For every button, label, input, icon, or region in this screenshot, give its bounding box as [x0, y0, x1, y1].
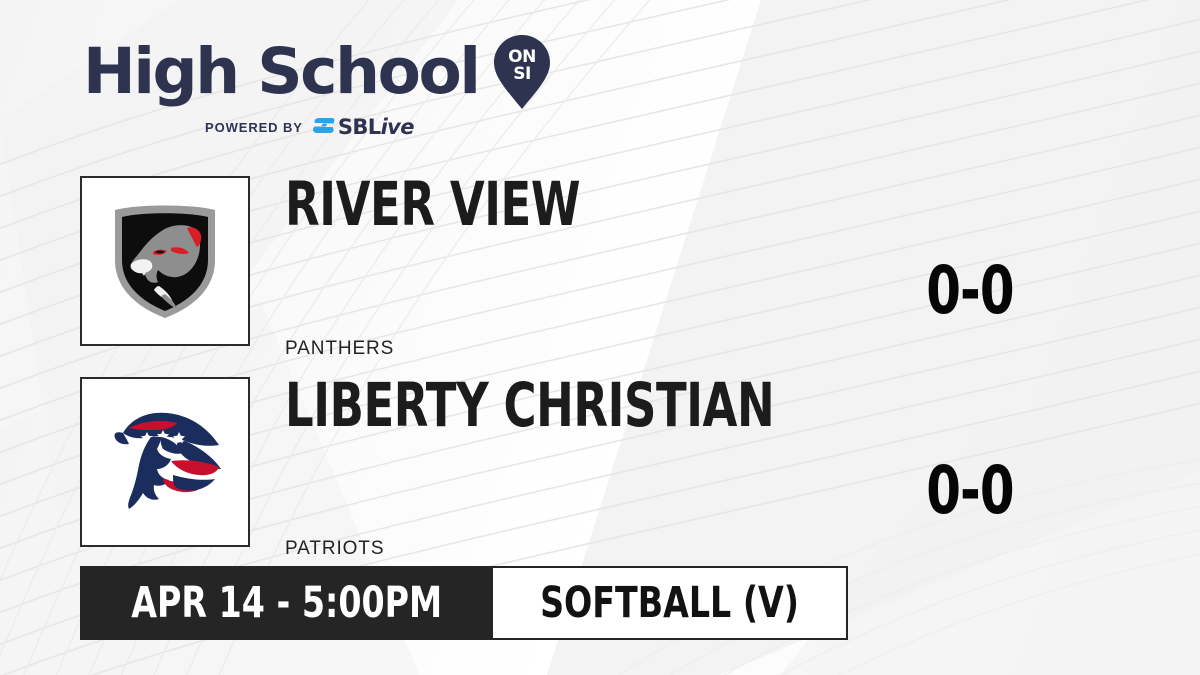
brand-title-row: High School ON SI — [83, 34, 703, 110]
sblive-main: SBL — [338, 115, 381, 139]
sblive-suffix: ive — [381, 115, 414, 139]
game-info-bar: APR 14 - 5:00PM SOFTBALL (V) — [80, 566, 848, 640]
game-datetime-panel: APR 14 - 5:00PM — [80, 566, 493, 640]
brand-title: High School — [83, 41, 479, 103]
team-name-river-view: RIVER VIEW — [285, 174, 580, 235]
team-logo-box-liberty-christian — [80, 377, 250, 547]
team-name-liberty-christian: LIBERTY CHRISTIAN — [285, 375, 774, 436]
panther-shield-logo — [109, 202, 221, 320]
team-record-liberty-christian: 0-0 — [878, 458, 1063, 524]
sblive-bolt-icon — [312, 117, 335, 138]
team-mascot-patriots: PATRIOTS — [285, 538, 384, 560]
on-si-pin-icon: ON SI — [493, 34, 551, 110]
game-sport-panel: SOFTBALL (V) — [493, 566, 848, 640]
sblive-wordmark: SBLive — [338, 115, 414, 139]
team-mascot-panthers: PANTHERS — [285, 338, 394, 360]
brand-header: High School ON SI POWERED BY SBLive — [83, 34, 703, 139]
powered-by-label: POWERED BY — [205, 120, 303, 135]
matchup-graphic: High School ON SI POWERED BY SBLive — [0, 0, 1200, 675]
game-datetime: APR 14 - 5:00PM — [131, 582, 442, 625]
team-record-river-view: 0-0 — [878, 258, 1063, 324]
game-sport: SOFTBALL (V) — [541, 582, 800, 625]
team-logo-box-river-view — [80, 176, 250, 346]
powered-by-row: POWERED BY SBLive — [83, 115, 703, 139]
patriot-head-logo — [103, 403, 227, 521]
svg-text:SI: SI — [513, 64, 531, 84]
sblive-logo: SBLive — [312, 115, 414, 139]
